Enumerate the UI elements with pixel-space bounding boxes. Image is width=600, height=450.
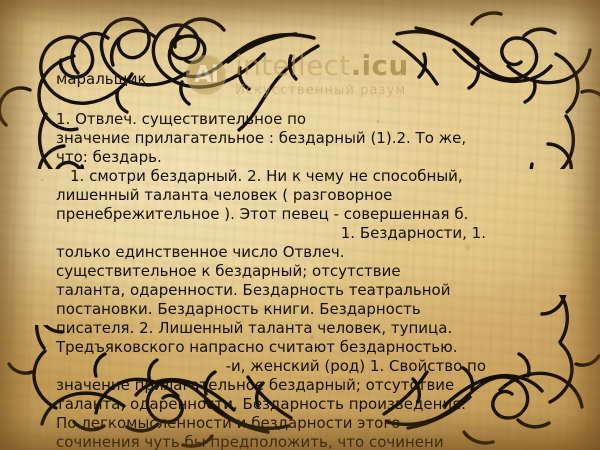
slide-canvas: Ai intellect.icu Искусственный разум мар… <box>0 0 600 450</box>
edge-vignette <box>0 0 600 450</box>
